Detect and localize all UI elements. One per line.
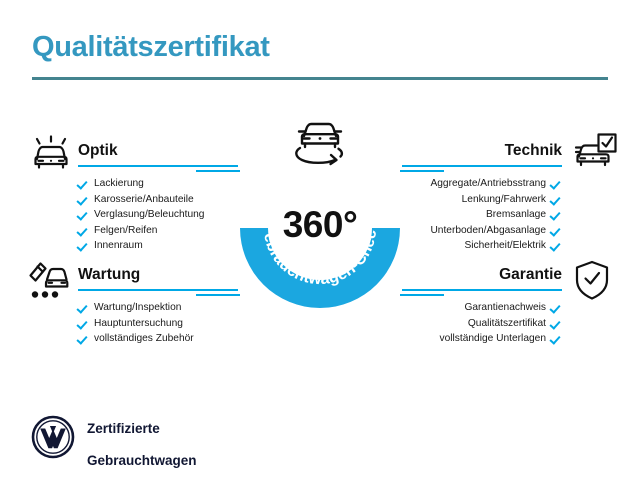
list-item-label: Felgen/Reifen bbox=[94, 223, 157, 239]
list-item: vollständiges Zubehör bbox=[78, 331, 308, 347]
check-icon bbox=[78, 302, 89, 313]
list-item-label: Garantienachweis bbox=[464, 300, 546, 316]
section-divider-optik bbox=[78, 165, 238, 167]
list-item-label: vollständiges Zubehör bbox=[94, 331, 194, 347]
list-item-label: Verglasung/Beleuchtung bbox=[94, 207, 204, 223]
vw-logo bbox=[31, 415, 75, 459]
check-icon bbox=[78, 194, 89, 205]
footer-line-1: Zertifizierte bbox=[87, 421, 160, 436]
badge-center-label: 360° bbox=[240, 204, 400, 246]
check-icon bbox=[78, 333, 89, 344]
shield-check-icon bbox=[569, 258, 615, 302]
list-item-label: Karosserie/Anbauteile bbox=[94, 192, 194, 208]
list-item: Qualitätszertifikat bbox=[332, 316, 562, 332]
list-item-label: Lackierung bbox=[94, 176, 144, 192]
check-icon bbox=[78, 178, 89, 189]
check-icon bbox=[78, 209, 89, 220]
list-item-label: Bremsanlage bbox=[486, 207, 546, 223]
shiny-car-icon bbox=[28, 131, 74, 175]
section-divider-wartung bbox=[78, 289, 238, 291]
footer-line-2: Gebrauchtwagen bbox=[87, 453, 197, 468]
list-item-label: Innenraum bbox=[94, 238, 143, 254]
list-item-label: vollständige Unterlagen bbox=[440, 331, 546, 347]
footer-logo-text: Zertifizierte Gebrauchtwagen bbox=[87, 405, 197, 469]
list-item-label: Hauptuntersuchung bbox=[94, 316, 183, 332]
check-icon bbox=[551, 178, 562, 189]
check-icon bbox=[551, 194, 562, 205]
check-icon bbox=[78, 225, 89, 236]
check-icon bbox=[551, 302, 562, 313]
car-checkbox-icon bbox=[572, 131, 618, 175]
check-icon bbox=[551, 240, 562, 251]
badge-360-gebrauchtwagen-check: Gebrauchtwagen-Check 360° bbox=[240, 148, 400, 308]
check-icon bbox=[551, 225, 562, 236]
check-icon bbox=[551, 318, 562, 329]
section-divider-technik bbox=[402, 165, 562, 167]
check-icon bbox=[78, 240, 89, 251]
car-rotate-icon bbox=[286, 117, 354, 169]
title-divider bbox=[32, 77, 608, 80]
check-icon bbox=[551, 209, 562, 220]
check-icon bbox=[551, 333, 562, 344]
footer-logo-block: Zertifizierte Gebrauchtwagen bbox=[31, 405, 197, 469]
list-item: Hauptuntersuchung bbox=[78, 316, 308, 332]
list-item-label: Aggregate/Antriebsstrang bbox=[430, 176, 546, 192]
car-service-icon bbox=[25, 258, 71, 302]
check-icon bbox=[78, 318, 89, 329]
list-item-label: Lenkung/Fahrwerk bbox=[462, 192, 546, 208]
page-title: Qualitätszertifikat bbox=[32, 32, 608, 64]
list-item-label: Sicherheit/Elektrik bbox=[464, 238, 546, 254]
list-item: vollständige Unterlagen bbox=[332, 331, 562, 347]
list-item-label: Unterboden/Abgasanlage bbox=[430, 223, 546, 239]
list-item-label: Wartung/Inspektion bbox=[94, 300, 181, 316]
list-item-label: Qualitätszertifikat bbox=[468, 316, 546, 332]
section-divider-garantie bbox=[402, 289, 562, 291]
title-block: Qualitätszertifikat bbox=[32, 32, 608, 80]
